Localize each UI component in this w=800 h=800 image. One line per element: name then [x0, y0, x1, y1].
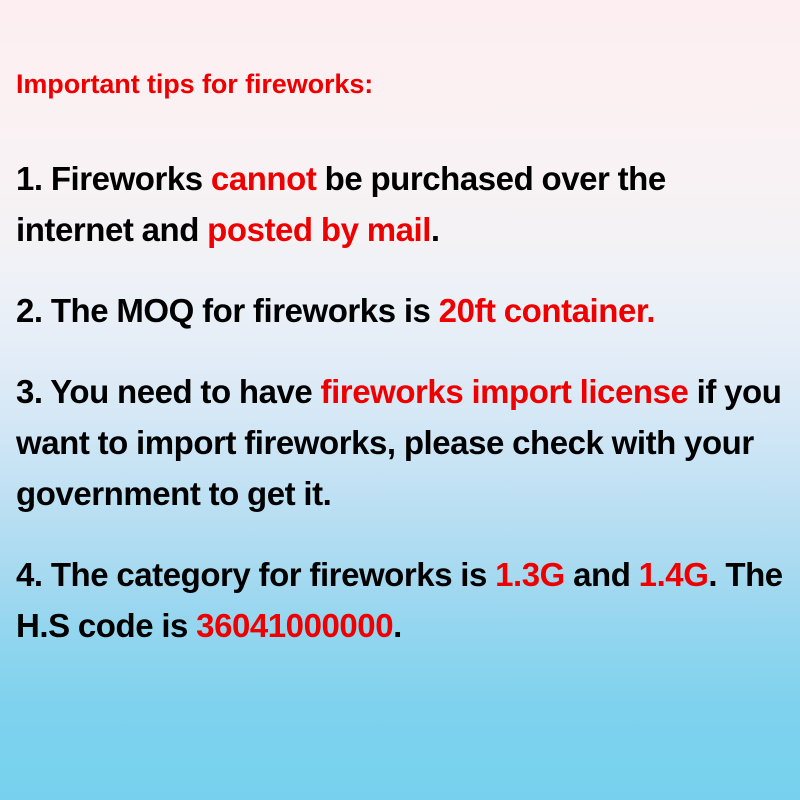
- tip-text: You need to have fireworks import licens…: [16, 373, 781, 512]
- highlighted-text: fireworks import license: [321, 373, 689, 410]
- plain-text: The MOQ for fireworks is: [43, 292, 439, 329]
- tips-list: 1. Fireworks cannot be purchased over th…: [16, 153, 784, 651]
- tip-text: The category for fireworks is 1.3G and 1…: [16, 556, 783, 644]
- plain-text: The category for fireworks is: [43, 556, 496, 593]
- list-item: 2. The MOQ for fireworks is 20ft contain…: [16, 285, 784, 336]
- tip-number: 2.: [16, 292, 43, 329]
- tip-number: 4.: [16, 556, 43, 593]
- highlighted-text: cannot: [211, 160, 316, 197]
- fireworks-tips-notice: Important tips for fireworks: 1. Firewor…: [0, 0, 800, 800]
- tip-text: The MOQ for fireworks is 20ft container.: [43, 292, 656, 329]
- highlighted-text: 20ft container.: [439, 292, 655, 329]
- list-item: 4. The category for fireworks is 1.3G an…: [16, 549, 784, 651]
- tip-text: Fireworks cannot be purchased over the i…: [16, 160, 666, 248]
- list-item: 3. You need to have fireworks import lic…: [16, 366, 784, 519]
- list-item: 1. Fireworks cannot be purchased over th…: [16, 153, 784, 255]
- plain-text: and: [565, 556, 639, 593]
- highlighted-text: 1.3G: [495, 556, 565, 593]
- plain-text: Fireworks: [43, 160, 211, 197]
- highlighted-text: 1.4G: [639, 556, 709, 593]
- tip-number: 1.: [16, 160, 43, 197]
- plain-text: .: [431, 211, 440, 248]
- plain-text: .: [393, 607, 402, 644]
- highlighted-text: posted by mail: [207, 211, 431, 248]
- page-title: Important tips for fireworks:: [16, 69, 373, 100]
- plain-text: You need to have: [43, 373, 321, 410]
- tip-number: 3.: [16, 373, 43, 410]
- highlighted-text: 36041000000: [196, 607, 393, 644]
